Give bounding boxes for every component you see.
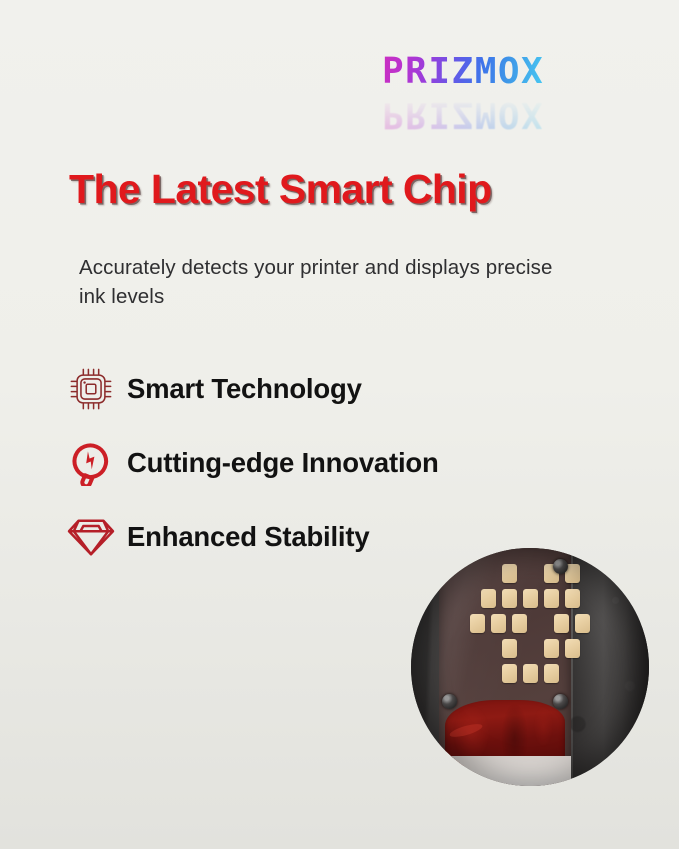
feature-label: Cutting-edge Innovation <box>127 447 439 479</box>
page-title: The Latest Smart Chip <box>69 166 492 213</box>
screw-top-left <box>442 559 457 574</box>
page-subtitle: Accurately detects your printer and disp… <box>79 253 564 311</box>
feature-label: Smart Technology <box>127 373 362 405</box>
lightbulb-bolt-icon <box>55 440 127 486</box>
feature-label: Enhanced Stability <box>127 521 369 553</box>
diamond-icon <box>55 515 127 559</box>
feature-list: Smart Technology Cutting-edge Innovation… <box>55 352 615 574</box>
photo-vignette <box>411 548 649 786</box>
cartridge-chip-macro-photo <box>411 548 649 786</box>
brand-logo-text: PRIZMOX <box>382 52 544 92</box>
feature-item-smart-technology: Smart Technology <box>55 352 615 426</box>
feature-item-cutting-edge-innovation: Cutting-edge Innovation <box>55 426 615 500</box>
brand-logo-reflection: PRIZMOX <box>382 94 544 134</box>
microchip-icon <box>55 366 127 412</box>
brand-logo: PRIZMOX PRIZMOX <box>382 52 596 138</box>
